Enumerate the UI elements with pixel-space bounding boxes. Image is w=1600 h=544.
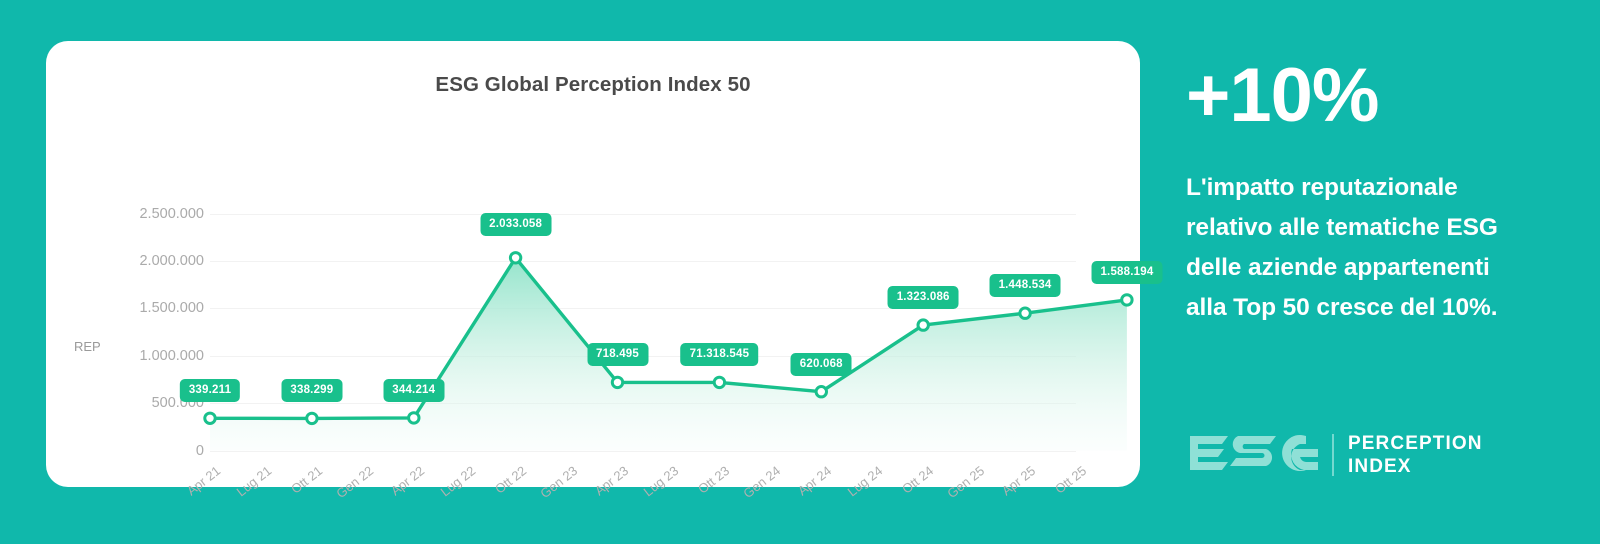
data-point-marker[interactable] bbox=[612, 377, 622, 387]
esg-perception-index-logo: PERCEPTION INDEX bbox=[1188, 432, 1483, 478]
data-point-label: 71.318.545 bbox=[681, 343, 759, 366]
logo-line-index: INDEX bbox=[1348, 455, 1483, 478]
infographic-root: ESG Global Perception Index 50 REP 0500.… bbox=[0, 0, 1600, 544]
line-series-svg bbox=[46, 41, 1140, 487]
right-panel: +10% L'impatto reputazionale relativo al… bbox=[1186, 0, 1600, 544]
data-point-marker[interactable] bbox=[714, 377, 724, 387]
data-point-marker[interactable] bbox=[816, 387, 826, 397]
data-point-marker[interactable] bbox=[205, 413, 215, 423]
esg-wordmark-icon bbox=[1188, 432, 1320, 478]
data-point-label: 339.211 bbox=[180, 379, 240, 402]
data-point-label: 2.033.058 bbox=[480, 213, 551, 236]
logo-line-perception: PERCEPTION bbox=[1348, 432, 1483, 455]
headline-percentage: +10% bbox=[1186, 58, 1379, 134]
data-point-marker[interactable] bbox=[409, 413, 419, 423]
data-point-label: 620.068 bbox=[791, 353, 852, 376]
logo-divider bbox=[1332, 434, 1334, 476]
data-point-label: 718.495 bbox=[587, 343, 648, 366]
data-point-marker[interactable] bbox=[1020, 308, 1030, 318]
description-text: L'impatto reputazionale relativo alle te… bbox=[1186, 168, 1516, 328]
data-point-label: 1.448.534 bbox=[990, 274, 1061, 297]
data-point-marker[interactable] bbox=[307, 413, 317, 423]
data-point-marker[interactable] bbox=[918, 320, 928, 330]
data-point-label: 344.214 bbox=[383, 379, 444, 402]
data-point-label: 338.299 bbox=[281, 379, 342, 402]
data-point-marker[interactable] bbox=[510, 253, 520, 263]
logo-text: PERCEPTION INDEX bbox=[1348, 432, 1483, 478]
data-point-marker[interactable] bbox=[1122, 295, 1132, 305]
data-point-label: 1.323.086 bbox=[888, 286, 959, 309]
chart-plot-area: REP 0500.0001.000.0001.500.0002.000.0002… bbox=[46, 41, 1140, 487]
chart-card: ESG Global Perception Index 50 REP 0500.… bbox=[46, 41, 1140, 487]
data-point-label: 1.588.194 bbox=[1091, 261, 1162, 284]
